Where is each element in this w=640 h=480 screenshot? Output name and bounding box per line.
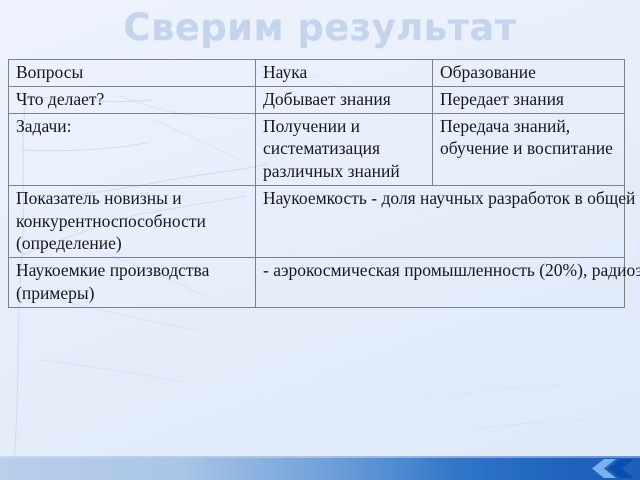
table-cell-merged: - аэрокосмическая промышленность (20%), … <box>256 258 625 308</box>
table-row: Показатель новизны и конкурентноспособно… <box>9 185 625 257</box>
chevron-left-back-icon[interactable] <box>582 458 636 479</box>
table-cell: Что делает? <box>9 86 256 113</box>
table-header-cell: Вопросы <box>9 60 256 87</box>
page-title: Сверим результат <box>0 2 640 54</box>
table-cell: Получении и систематизация различных зна… <box>256 113 433 185</box>
table-row: Задачи: Получении и систематизация разли… <box>9 113 625 185</box>
table-cell: Передает знания <box>433 86 625 113</box>
bottom-ribbon <box>0 458 640 480</box>
table-cell: Наукоемкие производства (примеры) <box>9 258 256 308</box>
table-cell: Задачи: <box>9 113 256 185</box>
slide-canvas: Сверим результат Вопросы Наука Образован… <box>0 0 640 480</box>
table-header-row: Вопросы Наука Образование <box>9 60 625 87</box>
table-row: Что делает? Добывает знания Передает зна… <box>9 86 625 113</box>
table-cell-text: - аэрокосмическая промышленность (20%), … <box>263 259 640 282</box>
table-cell-text: Наукоемкость - доля научных разработок в… <box>263 187 640 210</box>
comparison-table: Вопросы Наука Образование Что делает? До… <box>8 59 625 308</box>
table-header-cell: Образование <box>433 60 625 87</box>
table-cell: Показатель новизны и конкурентноспособно… <box>9 185 256 257</box>
table-row: Наукоемкие производства (примеры) - аэро… <box>9 258 625 308</box>
table-header-cell: Наука <box>256 60 433 87</box>
table-cell: Добывает знания <box>256 86 433 113</box>
table-cell-merged: Наукоемкость - доля научных разработок в… <box>256 185 625 257</box>
table-cell: Передача знаний, обучение и воспитание <box>433 113 625 185</box>
comparison-table-wrapper: Вопросы Наука Образование Что делает? До… <box>8 59 624 308</box>
